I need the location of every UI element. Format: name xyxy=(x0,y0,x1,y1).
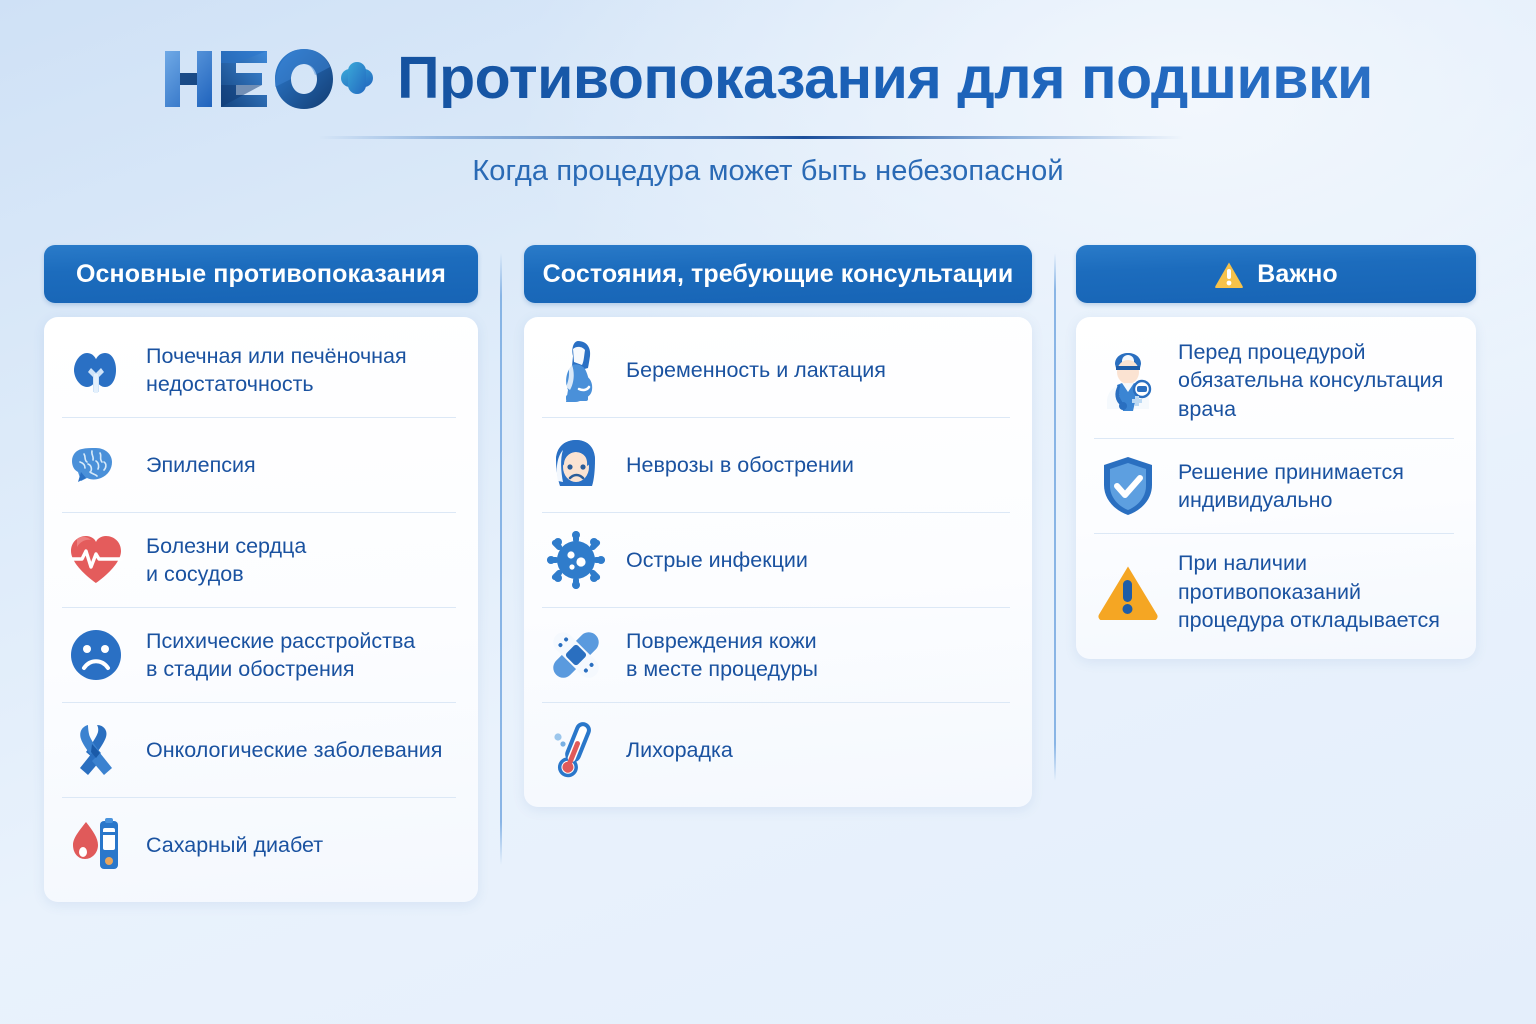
column-header-label: Состояния, требующие консультации xyxy=(543,260,1014,289)
columns-container: Основные противопоказания Почечная или п… xyxy=(0,245,1536,945)
list-item-label: Болезни сердца и сосудов xyxy=(146,532,306,589)
doctor-icon xyxy=(1096,349,1160,413)
neo-plus-logo xyxy=(163,44,375,112)
list-item-label: Лихорадка xyxy=(626,736,733,764)
brain-icon xyxy=(64,433,128,497)
list-item[interactable]: Перед процедурой обязательна консультаци… xyxy=(1094,323,1454,439)
virus-icon xyxy=(544,528,608,592)
list-item[interactable]: Почечная или печёночная недостаточность xyxy=(62,323,456,418)
column-divider-2 xyxy=(1054,253,1056,781)
list-item[interactable]: Онкологические заболевания xyxy=(62,703,456,798)
list-item[interactable]: Повреждения кожи в месте процедуры xyxy=(542,608,1010,703)
blood-glucometer-icon xyxy=(64,813,128,877)
column-header-main-contraindications: Основные противопоказания xyxy=(44,245,478,303)
page-title: Противопоказания для подшивки xyxy=(397,49,1373,108)
list-item-label: Эпилепсия xyxy=(146,451,256,479)
list-item[interactable]: Лихорадка xyxy=(542,703,1010,797)
warning-triangle-icon xyxy=(1096,560,1160,624)
brand-title-row: Противопоказания для подшивки xyxy=(0,44,1536,112)
list-item-label: Почечная или печёночная недостаточность xyxy=(146,342,407,399)
sad-woman-icon xyxy=(544,433,608,497)
column-header-important: Важно xyxy=(1076,245,1476,303)
list-item-label: Сахарный диабет xyxy=(146,831,323,859)
list-item-label: Неврозы в обострении xyxy=(626,451,854,479)
column-body-consultation-required: Беременность и лактация Неврозы в обостр… xyxy=(524,317,1032,807)
page-subtitle: Когда процедура может быть небезопасной xyxy=(0,155,1536,188)
shield-check-icon xyxy=(1096,454,1160,518)
title-divider xyxy=(318,136,1184,139)
list-item[interactable]: Психические расстройства в стадии обостр… xyxy=(62,608,456,703)
list-item-label: При наличии противопоказаний процедура о… xyxy=(1178,549,1440,634)
list-item-label: Онкологические заболевания xyxy=(146,736,442,764)
list-item-label: Перед процедурой обязательна консультаци… xyxy=(1178,338,1443,423)
list-item-label: Психические расстройства в стадии обостр… xyxy=(146,627,415,684)
pregnant-woman-icon xyxy=(544,338,608,402)
column-header-label: Основные противопоказания xyxy=(76,260,446,289)
heart-pulse-icon xyxy=(64,528,128,592)
column-body-important: Перед процедурой обязательна консультаци… xyxy=(1076,317,1476,659)
warning-triangle-icon xyxy=(1214,261,1244,288)
column-important: Важно xyxy=(1076,245,1476,659)
column-main-contraindications: Основные противопоказания Почечная или п… xyxy=(44,245,478,902)
list-item[interactable]: Неврозы в обострении xyxy=(542,418,1010,513)
column-header-consultation-required: Состояния, требующие консультации xyxy=(524,245,1032,303)
column-header-label: Важно xyxy=(1257,260,1338,289)
list-item[interactable]: Сахарный диабет xyxy=(62,798,456,892)
list-item-label: Беременность и лактация xyxy=(626,356,886,384)
kidneys-icon xyxy=(64,338,128,402)
column-divider-1 xyxy=(500,253,502,865)
list-item[interactable]: Решение принимается индивидуально xyxy=(1094,439,1454,534)
column-consultation-required: Состояния, требующие консультации Береме… xyxy=(524,245,1032,807)
bandage-icon xyxy=(544,623,608,687)
list-item-label: Решение принимается индивидуально xyxy=(1178,458,1404,515)
list-item[interactable]: Острые инфекции xyxy=(542,513,1010,608)
list-item[interactable]: Болезни сердца и сосудов xyxy=(62,513,456,608)
list-item[interactable]: Беременность и лактация xyxy=(542,323,1010,418)
list-item[interactable]: Эпилепсия xyxy=(62,418,456,513)
list-item-label: Острые инфекции xyxy=(626,546,808,574)
awareness-ribbon-icon xyxy=(64,718,128,782)
column-body-main-contraindications: Почечная или печёночная недостаточность … xyxy=(44,317,478,902)
sad-face-icon xyxy=(64,623,128,687)
list-item-label: Повреждения кожи в месте процедуры xyxy=(626,627,818,684)
thermometer-icon xyxy=(544,718,608,782)
page-header: Противопоказания для подшивки Когда проц… xyxy=(0,0,1536,208)
list-item[interactable]: При наличии противопоказаний процедура о… xyxy=(1094,534,1454,649)
